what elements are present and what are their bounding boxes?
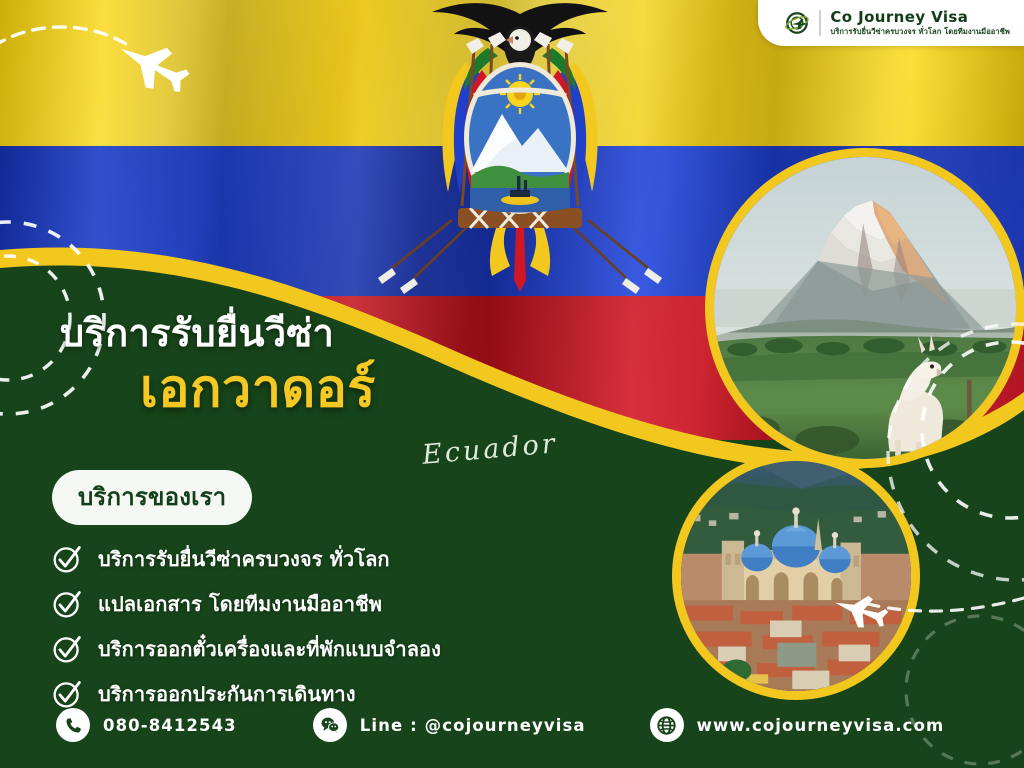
headline-line-1: บริการรับยื่นวีซ่า: [60, 312, 376, 356]
services-pill-label: บริการของเรา: [52, 470, 252, 525]
check-circle-icon: [52, 679, 82, 709]
list-item: บริการออกประกันการเดินทาง: [52, 678, 441, 710]
brand-name: Co Journey Visa: [830, 10, 1010, 26]
phone-icon: [56, 708, 90, 742]
contact-website-text: www.cojourneyvisa.com: [697, 716, 945, 735]
headline-block: บริการรับยื่นวีซ่า เอกวาดอร์ Ecuador: [60, 312, 376, 419]
photo-cotopaxi-volcano: [705, 148, 1024, 468]
check-circle-icon: [52, 634, 82, 664]
list-item: บริการรับยื่นวีซ่าครบวงจร ทั่วโลก: [52, 543, 441, 575]
contact-phone-text: 080-8412543: [103, 716, 237, 735]
photo-cuenca-cathedral: [672, 452, 920, 700]
contact-line[interactable]: Line : @cojourneyvisa: [313, 708, 586, 742]
services-list: บริการรับยื่นวีซ่าครบวงจร ทั่วโลก แปลเอก…: [52, 543, 441, 710]
contact-phone[interactable]: 080-8412543: [56, 708, 237, 742]
contact-website[interactable]: www.cojourneyvisa.com: [650, 708, 945, 742]
globe-plane-logo-icon: [784, 10, 810, 36]
list-item: แปลเอกสาร โดยทีมงานมืออาชีพ: [52, 588, 441, 620]
contact-line-text: Line : @cojourneyvisa: [360, 716, 586, 735]
check-circle-icon: [52, 544, 82, 574]
contact-footer: 080-8412543 Line : @cojourneyvi: [56, 708, 944, 742]
services-block: บริการของเรา บริการรับยื่นวีซ่าครบวงจร ท…: [52, 470, 441, 723]
list-item-label: บริการรับยื่นวีซ่าครบวงจร ทั่วโลก: [98, 543, 390, 575]
visa-promo-banner: Co Journey Visa บริการรับยื่นวีซ่าครบวงจ…: [0, 0, 1024, 768]
brand-tagline: บริการรับยื่นวีซ่าครบวงจร ทั่วโลก โดยทีม…: [830, 28, 1010, 36]
logo-divider: [819, 10, 821, 36]
check-circle-icon: [52, 589, 82, 619]
list-item-label: แปลเอกสาร โดยทีมงานมืออาชีพ: [98, 588, 382, 620]
list-item: บริการออกตั๋วเครื่องและที่พักแบบจำลอง: [52, 633, 441, 665]
globe-icon: [650, 708, 684, 742]
list-item-label: บริการออกประกันการเดินทาง: [98, 678, 356, 710]
list-item-label: บริการออกตั๋วเครื่องและที่พักแบบจำลอง: [98, 633, 441, 665]
headline-line-2: เอกวาดอร์: [140, 360, 376, 420]
brand-logo-badge[interactable]: Co Journey Visa บริการรับยื่นวีซ่าครบวงจ…: [758, 0, 1024, 46]
line-chat-icon: [313, 708, 347, 742]
